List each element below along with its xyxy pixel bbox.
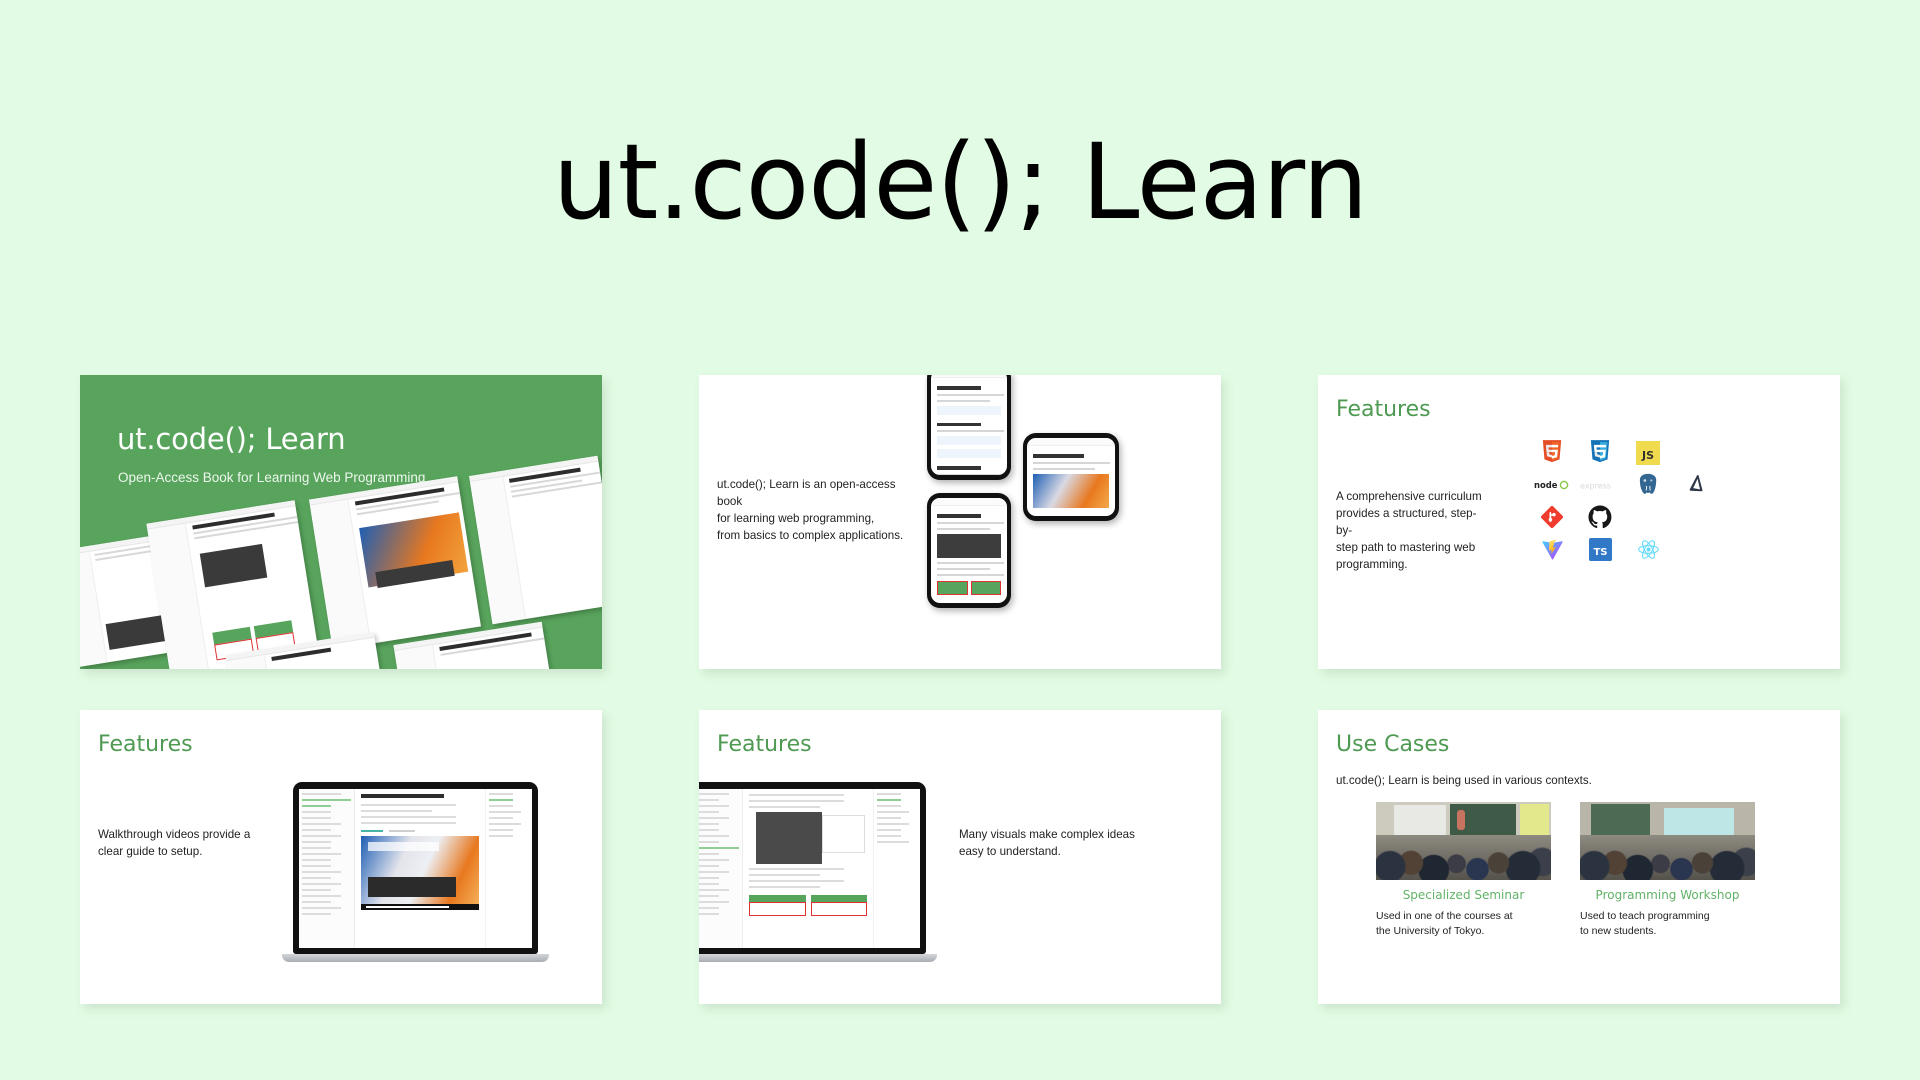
javascript-icon: JS bbox=[1635, 440, 1661, 466]
intro-body: ut.code(); Learn is an open-access book … bbox=[717, 477, 917, 545]
phone-mockup-properties bbox=[927, 375, 1011, 480]
mockup-content bbox=[355, 789, 486, 948]
use-case-card[interactable]: Specialized Seminar Used in one of the c… bbox=[1376, 802, 1551, 939]
github-icon bbox=[1587, 504, 1613, 530]
laptop-mockup-vscode bbox=[293, 782, 538, 962]
slide-heading: Features bbox=[1336, 397, 1431, 422]
slide-overview-page: ut.code(); Learn ut.code(); Learn Open-A… bbox=[0, 0, 1920, 1080]
phone-mockup-database bbox=[927, 493, 1011, 608]
laptop-mockup-diagram bbox=[699, 782, 926, 962]
svg-text:JS: JS bbox=[1641, 449, 1654, 462]
slide-thumbnail-cover[interactable]: ut.code(); Learn Open-Access Book for Le… bbox=[80, 375, 602, 669]
use-cases-lead: ut.code(); Learn is being used in variou… bbox=[1336, 773, 1776, 790]
prisma-icon bbox=[1683, 472, 1709, 498]
mockup-sidebar bbox=[299, 789, 355, 948]
slide-heading: Features bbox=[717, 732, 812, 757]
workshop-photo bbox=[1580, 802, 1755, 880]
logo-empty-slot bbox=[1683, 504, 1709, 530]
use-case-caption: Specialized Seminar bbox=[1376, 888, 1551, 902]
typescript-icon: TS bbox=[1587, 536, 1613, 562]
logo-empty-slot bbox=[1683, 440, 1709, 466]
vite-icon bbox=[1539, 536, 1565, 562]
laptop-notch bbox=[786, 783, 822, 787]
features-curriculum-body: A comprehensive curriculum provides a st… bbox=[1336, 489, 1486, 574]
laptop-notch bbox=[398, 783, 434, 787]
page-title: ut.code(); Learn bbox=[0, 128, 1920, 237]
use-case-description: Used in one of the courses at the Univer… bbox=[1376, 909, 1551, 939]
tablet-mockup-vscode bbox=[1023, 433, 1119, 521]
mockup-toc bbox=[873, 789, 920, 948]
slide-heading: Features bbox=[98, 732, 193, 757]
doc-page bbox=[469, 456, 602, 624]
technology-logo-grid: JS node express bbox=[1528, 437, 1723, 565]
logo-empty-slot bbox=[1683, 536, 1709, 562]
react-icon bbox=[1635, 536, 1661, 562]
git-icon bbox=[1539, 504, 1565, 530]
logo-empty-slot bbox=[1635, 504, 1661, 530]
svg-text:TS: TS bbox=[1593, 546, 1607, 557]
express-icon: express bbox=[1580, 472, 1620, 498]
cover-subtitle: Open-Access Book for Learning Web Progra… bbox=[118, 470, 425, 485]
svg-text:express: express bbox=[1580, 481, 1611, 490]
slide-thumbnail-features-curriculum[interactable]: Features A comprehensive curriculum prov… bbox=[1318, 375, 1840, 669]
features-visuals-body: Many visuals make complex ideas easy to … bbox=[959, 827, 1159, 861]
slide-thumbnail-features-videos[interactable]: Features Walkthrough videos provide a cl… bbox=[80, 710, 602, 1004]
slide-thumbnail-features-visuals[interactable]: Features Many visuals make complex ideas… bbox=[699, 710, 1221, 1004]
laptop-base bbox=[699, 954, 937, 962]
doc-page bbox=[309, 476, 481, 650]
slide-thumbnail-use-cases[interactable]: Use Cases ut.code(); Learn is being used… bbox=[1318, 710, 1840, 1004]
slide-heading: Use Cases bbox=[1336, 732, 1449, 757]
nodejs-icon: node bbox=[1534, 472, 1570, 498]
slide-thumbnail-intro[interactable]: ut.code(); Learn is an open-access book … bbox=[699, 375, 1221, 669]
cover-document-collage bbox=[80, 493, 602, 669]
slide-grid: ut.code(); Learn Open-Access Book for Le… bbox=[80, 375, 1840, 1004]
postgresql-icon bbox=[1635, 472, 1661, 498]
laptop-base bbox=[282, 954, 549, 962]
use-case-description: Used to teach programming to new student… bbox=[1580, 909, 1755, 939]
cover-title: ut.code(); Learn bbox=[117, 422, 345, 456]
use-case-card[interactable]: Programming Workshop Used to teach progr… bbox=[1580, 802, 1755, 939]
mockup-content bbox=[743, 789, 874, 948]
seminar-photo bbox=[1376, 802, 1551, 880]
css3-icon bbox=[1587, 440, 1613, 466]
mockup-toc bbox=[485, 789, 532, 948]
svg-text:node: node bbox=[1534, 480, 1558, 490]
features-videos-body: Walkthrough videos provide a clear guide… bbox=[98, 827, 278, 861]
mockup-sidebar bbox=[699, 789, 743, 948]
html5-icon bbox=[1539, 440, 1565, 466]
use-case-caption: Programming Workshop bbox=[1580, 888, 1755, 902]
